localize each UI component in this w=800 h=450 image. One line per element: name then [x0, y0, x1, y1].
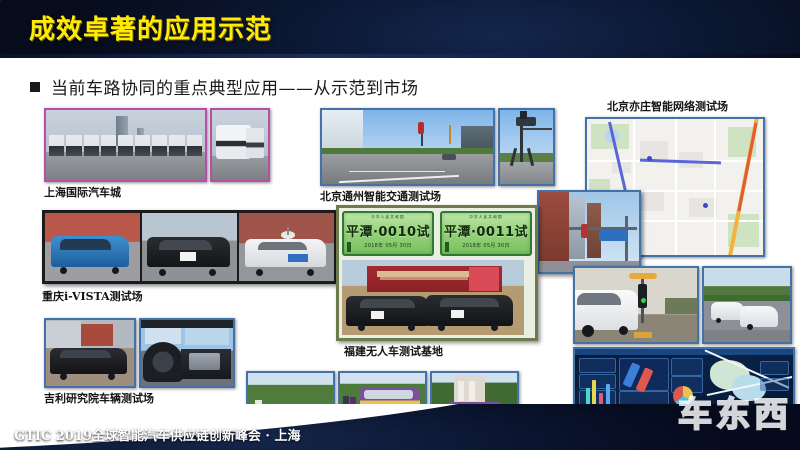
- photo-group-shanghai: 上海国际汽车城: [44, 108, 270, 200]
- bullet-row: 当前车路协同的重点典型应用——从示范到市场: [30, 74, 419, 99]
- photo-bus-fleet-parking-lot: [44, 108, 207, 182]
- photo-black-sedan-at-gate: [44, 318, 136, 388]
- photo-group-geely: 吉利研究院车辆测试场: [44, 318, 235, 406]
- plate-side-mark: [445, 242, 449, 252]
- plate-region: 中华人民共和国: [469, 215, 503, 220]
- slide-root: 成效卓著的应用示范 当前车路协同的重点典型应用——从示范到市场: [0, 0, 800, 450]
- photo-two-black-test-sedans-at-base: [342, 260, 524, 335]
- photo-strip: [42, 210, 337, 284]
- photo-strip: 中华人民共和国 平潭·0010试 2018年 05月 30日 中华人民共和国 平…: [336, 205, 538, 341]
- slide-footer-bar: GTIC 2019全球智能汽车供应链创新峰会 · 上海: [0, 404, 800, 450]
- license-plate: 中华人民共和国 平潭·0011试 2018年 05月 30日: [440, 211, 532, 256]
- photo-white-car-and-mobile-traffic-light: [573, 266, 699, 344]
- square-bullet-icon: [30, 82, 40, 92]
- page-title: 成效卓著的应用示范: [29, 9, 272, 46]
- photo-group-beijing-tongzhou: 北京通州智能交通测试场: [320, 108, 555, 204]
- photo-city-street-traffic-signal: [537, 190, 641, 274]
- photo-city-street-traffic-signal-wrap: [537, 190, 641, 274]
- photo-strip: [320, 108, 555, 186]
- plate-region: 中华人民共和国: [371, 215, 405, 220]
- photo-white-sensor-taxi: [239, 213, 334, 281]
- plate-side-mark: [347, 242, 351, 252]
- plate-number: 平潭·0010试: [346, 221, 430, 240]
- plate-number: 平潭·0011试: [444, 221, 528, 240]
- caption-fujian: 福建无人车测试基地: [344, 343, 538, 359]
- caption-chongqing-ivista: 重庆i-VISTA测试场: [42, 288, 337, 304]
- photo-test-road-with-traffic-light: [320, 108, 495, 186]
- photo-black-sedan-test-car: [142, 213, 237, 281]
- caption-beijing-yizhuang: 北京亦庄智能网络测试场: [607, 98, 765, 114]
- photo-strip: [44, 108, 270, 182]
- photo-white-test-cars-on-road: [702, 266, 792, 344]
- plate-date: 2018年 05月 30日: [462, 242, 510, 249]
- photo-car-interior-dashboard-screen: [139, 318, 235, 388]
- photo-roadside-camera-gantry: [498, 108, 555, 186]
- photo-group-chongqing-ivista: 重庆i-VISTA测试场: [42, 210, 337, 304]
- bullet-text: 当前车路协同的重点典型应用——从示范到市场: [51, 74, 419, 99]
- photo-coach-bus-side-view: [210, 108, 270, 182]
- caption-beijing-tongzhou: 北京通州智能交通测试场: [320, 188, 555, 204]
- footer-text: GTIC 2019全球智能汽车供应链创新峰会 · 上海: [14, 425, 301, 444]
- photo-group-fujian: 中华人民共和国 平潭·0010试 2018年 05月 30日 中华人民共和国 平…: [336, 205, 538, 359]
- caption-shanghai: 上海国际汽车城: [44, 184, 270, 200]
- license-plate: 中华人民共和国 平潭·0010试 2018年 05月 30日: [342, 211, 434, 256]
- plate-date: 2018年 05月 30日: [364, 242, 412, 249]
- photo-strip: [573, 266, 795, 344]
- slide-title-bar: 成效卓著的应用示范: [0, 0, 800, 58]
- license-plate-pair: 中华人民共和国 平潭·0010试 2018年 05月 30日 中华人民共和国 平…: [342, 211, 532, 256]
- photo-blue-electric-hatchback: [45, 213, 140, 281]
- photo-strip: [44, 318, 235, 388]
